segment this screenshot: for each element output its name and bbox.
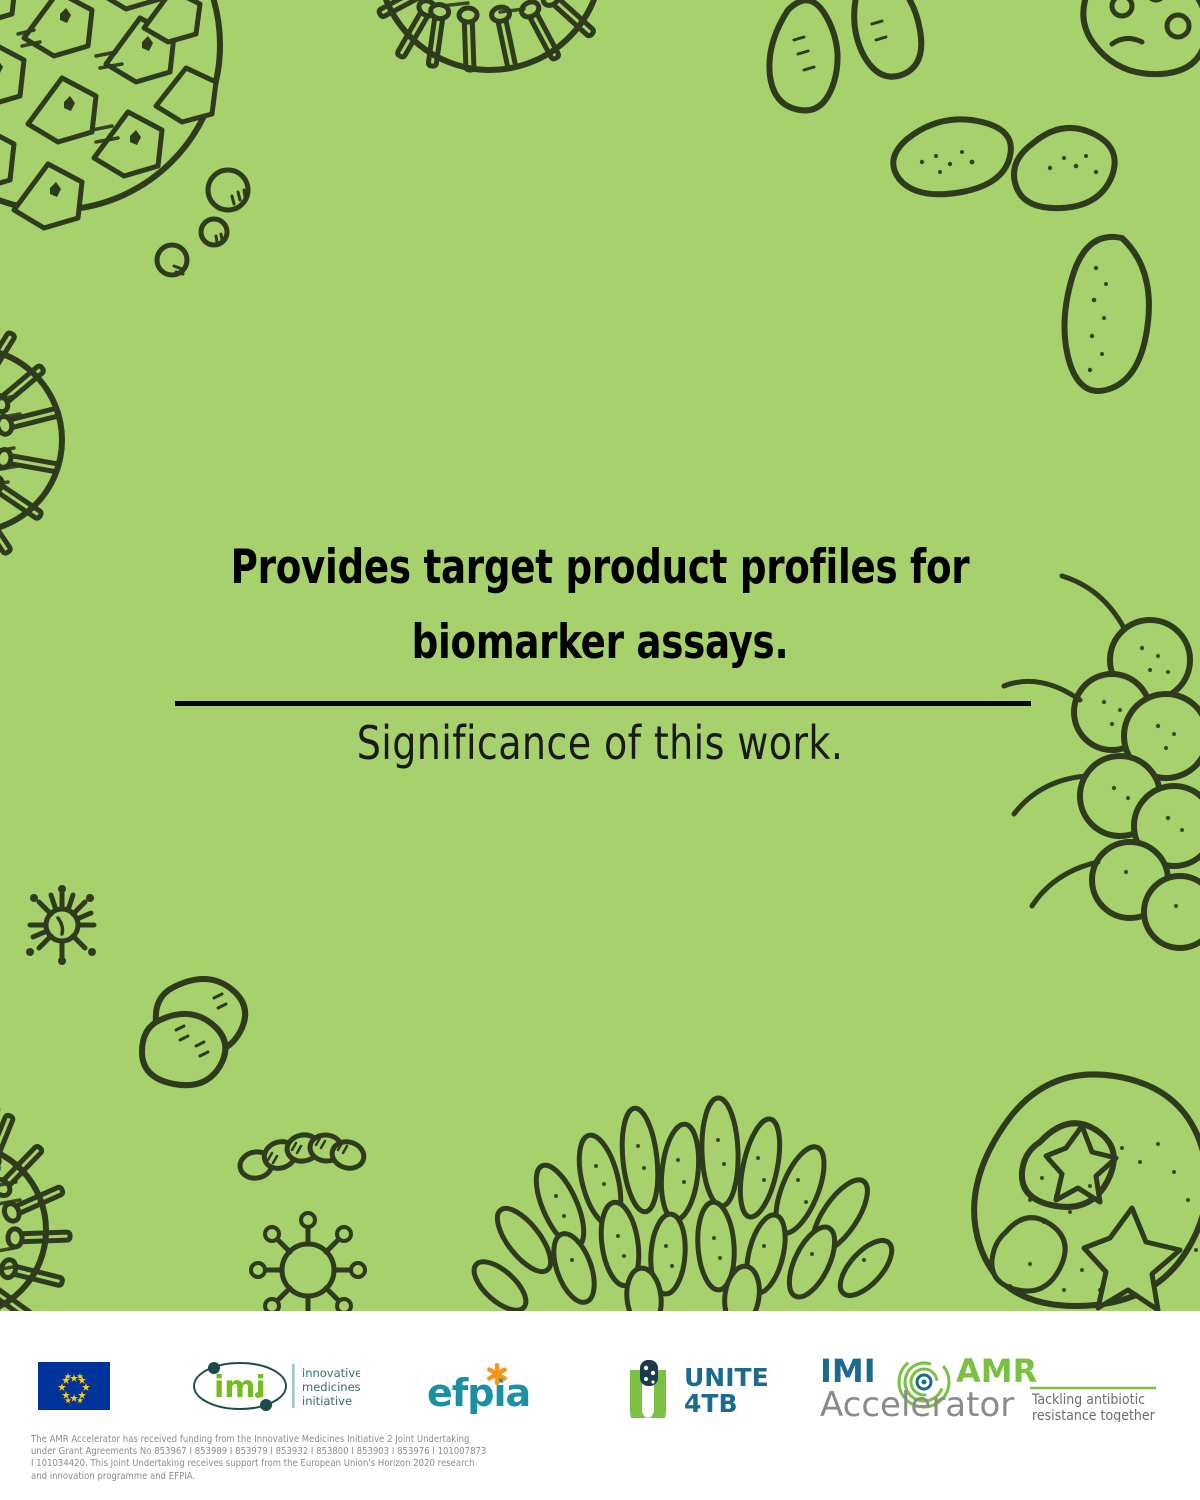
disclaimer-line-4: and innovation programme and EFPIA.	[31, 1471, 551, 1483]
worm-bacteria-bottom-left	[238, 1132, 367, 1181]
oval-bacteria-left	[142, 979, 245, 1085]
disclaimer-line-3: I 101034420. This Joint Undertaking rece…	[31, 1458, 551, 1470]
unite-text-line1: UNITE	[684, 1363, 769, 1392]
amr-accelerator-text: Accelerator	[820, 1385, 1014, 1422]
imi-amr-accelerator-logo: IMI AMR Accelerator Tackling antibiotic …	[820, 1352, 1165, 1422]
imi-line-1: innovative	[302, 1366, 360, 1380]
unite-text-line2: 4TB	[684, 1389, 738, 1418]
svg-text:imi: imi	[214, 1370, 266, 1405]
blob-top-right-corner	[1083, 0, 1200, 74]
bacillus-top-right	[769, 0, 921, 110]
european-union-flag-icon	[38, 1362, 110, 1410]
virus-capsid-top-left	[0, 0, 220, 228]
coronavirus-top-center	[373, 0, 613, 70]
bacteria-colony-bottom-center	[466, 1097, 900, 1311]
amoeba-bottom-right	[974, 1074, 1200, 1310]
headline-block: Provides target product profiles for bio…	[0, 530, 1200, 680]
funding-disclaimer: The AMR Accelerator has received funding…	[31, 1434, 551, 1483]
efpia-logo: efpia	[425, 1362, 530, 1414]
slide-root: Provides target product profiles for bio…	[0, 0, 1200, 1500]
spike-virus-left	[0, 313, 62, 557]
bubbles-top-left	[157, 170, 248, 275]
svg-text:efpia: efpia	[427, 1371, 530, 1414]
slide-canvas: Provides target product profiles for bio…	[0, 0, 1200, 1311]
title-divider-rule	[175, 701, 1031, 706]
small-virus-bottom-left	[251, 1213, 365, 1311]
disclaimer-line-2: under Grant Agreements No 853967 I 85398…	[31, 1446, 551, 1458]
amr-tagline-line1: Tackling antibiotic	[1031, 1392, 1145, 1408]
page-title: Provides target product profiles for bio…	[72, 530, 1128, 680]
disclaimer-line-1: The AMR Accelerator has received funding…	[31, 1434, 551, 1446]
imi-line-3: initiative	[302, 1394, 352, 1408]
page-subtitle: Significance of this work.	[48, 716, 1152, 770]
spike-virus-bottom-left	[0, 1105, 70, 1311]
amr-tagline-line2: resistance together	[1032, 1408, 1156, 1422]
spiky-virus-small-left	[26, 885, 96, 965]
capsule-icon	[640, 1360, 658, 1386]
unite4tb-logo: UNITE 4TB	[620, 1358, 780, 1418]
imi-line-2: medicines	[302, 1380, 360, 1394]
imi-logo: imi innovative medicines initiative	[190, 1358, 360, 1414]
rod-bacteria-right	[893, 119, 1149, 391]
